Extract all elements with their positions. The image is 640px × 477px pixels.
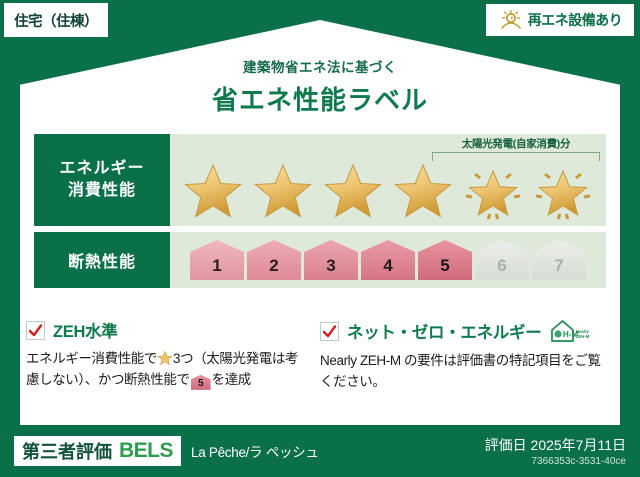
star-filled xyxy=(182,160,244,222)
zeh-sections: ZEH水準 エネルギー消費性能で3つ（太陽光発電は考慮しない）、かつ断熱性能で5… xyxy=(26,318,614,393)
net-zero-energy-title: ネット・ゼロ・エネルギー xyxy=(347,319,541,343)
zeh-standard-title: ZEH水準 xyxy=(53,318,118,342)
svg-text:ZEH-M: ZEH-M xyxy=(576,334,590,339)
net-zero-energy-section: ネット・ゼロ・エネルギー H-M Nearly ZEH-M Nearly ZEH… xyxy=(320,318,614,393)
insulation-label-text: 断熱性能 xyxy=(68,248,136,272)
net-zero-energy-header: ネット・ゼロ・エネルギー H-M Nearly ZEH-M xyxy=(320,318,604,344)
star-solar xyxy=(532,160,594,222)
energy-star-rating: 太陽光発電(自家消費)分 xyxy=(170,134,606,226)
grade-badge: 4 xyxy=(361,240,415,280)
building-name: La Pêche/ラ ペッシュ xyxy=(191,441,319,461)
bels-logo-text: BELS xyxy=(119,439,173,463)
footer-meta: 評価日 2025年7月11日 7366353c-3531-40ce xyxy=(485,435,626,467)
zeh-standard-body: エネルギー消費性能で3つ（太陽光発電は考慮しない）、かつ断熱性能で5を達成 xyxy=(26,349,310,391)
renewable-equipment-tag: 再エネ設備あり xyxy=(486,4,634,36)
dwelling-type-text: 住宅（住棟） xyxy=(14,10,98,31)
zeh-body-text-1: エネルギー消費性能で xyxy=(26,351,157,366)
grade-badge: 3 xyxy=(304,240,358,280)
insulation-performance-label: 断熱性能 xyxy=(34,232,170,288)
checkbox-checked xyxy=(320,322,339,341)
insulation-performance-row: 断熱性能 1 2 3 4 5 6 7 xyxy=(34,232,606,288)
star-solar xyxy=(462,160,524,222)
check-icon xyxy=(322,324,337,339)
energy-performance-label: エネルギー 消費性能 xyxy=(34,134,170,226)
dwelling-type-tag: 住宅（住棟） xyxy=(4,3,108,37)
solar-portion-note: 太陽光発電(自家消費)分 xyxy=(432,136,600,161)
star-inline-icon xyxy=(157,350,173,366)
net-zero-energy-body: Nearly ZEH-M の要件は評価書の特記項目をご覧ください。 xyxy=(320,351,604,393)
solar-portion-bracket xyxy=(432,152,600,161)
title-subtitle: 建築物省エネ法に基づく xyxy=(0,56,640,76)
energy-performance-label: 住宅（住棟） 再エネ設備あり 建築物省エネ法に基づく 省エネ性能ラベル エネルギ… xyxy=(0,0,640,477)
grade-badge-list: 1 2 3 4 5 6 7 xyxy=(170,232,606,288)
star-filled xyxy=(392,160,454,222)
grade-badge: 2 xyxy=(247,240,301,280)
renewable-equipment-text: 再エネ設備あり xyxy=(528,10,623,30)
grade-badge: 6 xyxy=(475,240,529,280)
performance-rows: エネルギー 消費性能 太陽光発電(自家消費)分 xyxy=(34,134,606,294)
star-filled xyxy=(252,160,314,222)
sun-icon xyxy=(498,8,524,32)
checkbox-checked xyxy=(26,321,45,340)
grade-badge: 7 xyxy=(532,240,586,280)
star-filled xyxy=(322,160,384,222)
solar-portion-caption: 太陽光発電(自家消費)分 xyxy=(432,136,600,151)
grade-badge: 1 xyxy=(190,240,244,280)
page-title: 省エネ性能ラベル xyxy=(0,80,640,117)
zeh-body-text-2: 3つ（太陽光発電 xyxy=(173,351,272,366)
grade-badge: 5 xyxy=(418,240,472,280)
check-icon xyxy=(28,323,43,338)
zeh-standard-header: ZEH水準 xyxy=(26,318,310,342)
bels-certification-badge: 第三者評価 BELS xyxy=(14,436,181,466)
energy-label-line2: 消費性能 xyxy=(68,180,136,202)
energy-label-line1: エネルギー xyxy=(59,158,144,180)
label-title-block: 建築物省エネ法に基づく 省エネ性能ラベル xyxy=(0,56,640,117)
energy-performance-row: エネルギー 消費性能 太陽光発電(自家消費)分 xyxy=(34,134,606,226)
evaluation-date: 評価日 2025年7月11日 xyxy=(485,435,626,455)
certificate-id: 7366353c-3531-40ce xyxy=(485,456,626,467)
zeh-standard-section: ZEH水準 エネルギー消費性能で3つ（太陽光発電は考慮しない）、かつ断熱性能で5… xyxy=(26,318,320,393)
zeh-body-text-4: を達成 xyxy=(212,372,251,387)
zeh-m-logo-icon: H-M Nearly ZEH-M xyxy=(549,318,593,344)
insulation-grade-scale: 1 2 3 4 5 6 7 xyxy=(170,232,606,288)
grade-badge-inline: 5 xyxy=(191,375,211,390)
bels-jp-text: 第三者評価 xyxy=(22,438,112,464)
footer-bar: 第三者評価 BELS La Pêche/ラ ペッシュ 評価日 2025年7月11… xyxy=(0,425,640,477)
